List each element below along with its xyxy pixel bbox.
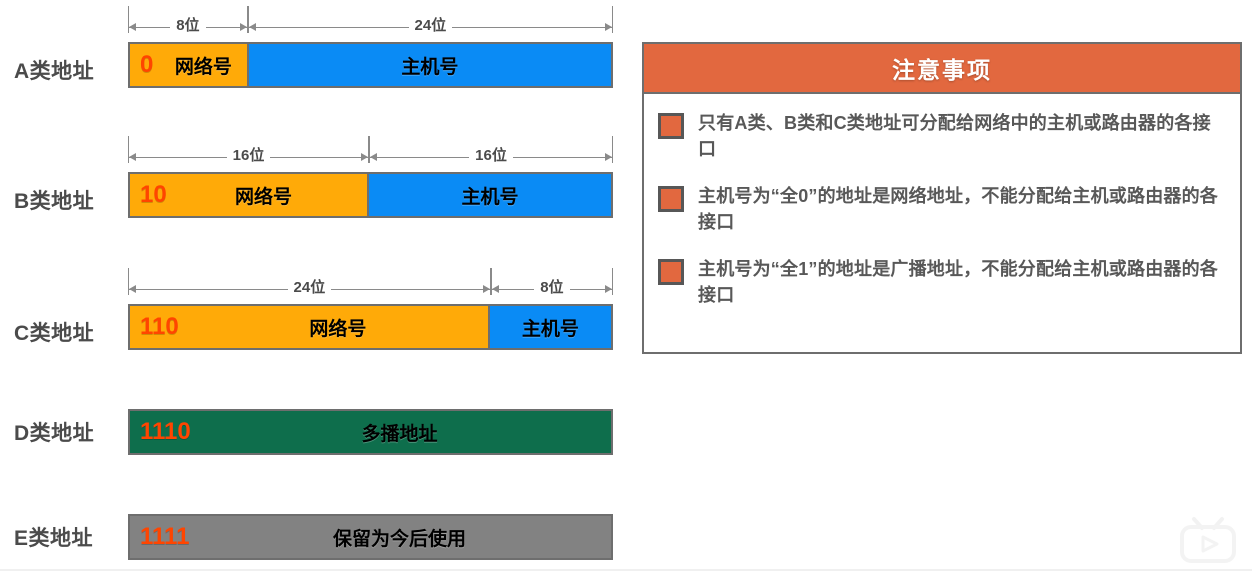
bit-dimension: 24位: [128, 268, 491, 298]
notice-item: 主机号为“全1”的地址是广播地址，不能分配给主机或路由器的各接口: [656, 256, 1224, 308]
row-label-b: B类地址: [14, 185, 94, 215]
address-bar-e: 1111 保留为今后使用: [128, 514, 613, 560]
address-bar-b: 10 网络号 主机号: [128, 172, 613, 218]
bit-label: 8位: [491, 276, 613, 297]
bit-prefix: 10: [140, 181, 167, 209]
notice-panel-body: 只有A类、B类和C类地址可分配给网络中的主机或路由器的各接口 主机号为“全0”的…: [644, 94, 1240, 309]
bit-label-text: 8位: [170, 17, 205, 34]
address-class-row-a: A类地址 8位 24位: [0, 0, 630, 100]
bit-prefix: 1111: [140, 523, 189, 551]
segment-label: 主机号: [490, 314, 611, 341]
bit-label-text: 16位: [227, 147, 271, 164]
segment-label: 主机号: [249, 52, 611, 79]
address-class-row-b: B类地址 16位 16位: [0, 130, 630, 230]
bit-dimension: 16位: [369, 136, 613, 166]
segment-label: 网络号: [130, 314, 488, 341]
bit-ruler-c: 24位 8位: [128, 268, 613, 298]
bit-ruler-a: 8位 24位: [128, 6, 613, 36]
notice-item-text: 只有A类、B类和C类地址可分配给网络中的主机或路由器的各接口: [698, 110, 1224, 162]
bit-ruler-b: 16位 16位: [128, 136, 613, 166]
bit-prefix: 110: [140, 313, 179, 341]
row-label-c: C类地址: [14, 317, 94, 347]
bit-prefix: 1110: [140, 418, 191, 446]
segment-label: 主机号: [369, 182, 611, 209]
notice-panel: 注意事项 只有A类、B类和C类地址可分配给网络中的主机或路由器的各接口 主机号为…: [642, 42, 1242, 354]
host-id-segment: 主机号: [490, 306, 611, 348]
network-id-segment: 110 网络号: [130, 306, 490, 348]
notice-item-text: 主机号为“全1”的地址是广播地址，不能分配给主机或路由器的各接口: [698, 256, 1224, 308]
network-id-segment: 10 网络号: [130, 174, 369, 216]
segment-label: 保留为今后使用: [130, 524, 611, 551]
notice-item-text: 主机号为“全0”的地址是网络地址，不能分配给主机或路由器的各接口: [698, 183, 1224, 235]
reserved-segment: 1111 保留为今后使用: [130, 516, 611, 558]
bit-label: 8位: [128, 14, 248, 35]
bit-label: 24位: [128, 276, 491, 297]
bit-label-text: 16位: [469, 147, 513, 164]
notice-item: 主机号为“全0”的地址是网络地址，不能分配给主机或路由器的各接口: [656, 183, 1224, 235]
bit-label: 24位: [248, 14, 613, 35]
host-id-segment: 主机号: [249, 44, 611, 86]
bit-dimension: 24位: [248, 6, 613, 36]
bilibili-tv-icon: [1176, 515, 1240, 565]
bit-dimension: 8位: [128, 6, 248, 36]
bit-prefix: 0: [140, 51, 153, 79]
network-id-segment: 0 网络号: [130, 44, 249, 86]
address-bar-a: 0 网络号 主机号: [128, 42, 613, 88]
notice-panel-title: 注意事项: [892, 51, 992, 85]
bit-label: 16位: [128, 144, 369, 165]
address-bar-d: 1110 多播地址: [128, 409, 613, 455]
host-id-segment: 主机号: [369, 174, 611, 216]
bullet-square-icon: [658, 113, 684, 139]
address-class-row-c: C类地址 24位 8位: [0, 262, 630, 362]
bit-dimension: 8位: [491, 268, 613, 298]
bit-label-text: 24位: [288, 279, 332, 296]
notice-panel-header: 注意事项: [644, 44, 1240, 94]
bit-label-text: 24位: [409, 17, 453, 34]
bit-dimension: 16位: [128, 136, 369, 166]
bit-label: 16位: [369, 144, 613, 165]
address-class-row-e: E类地址 1111 保留为今后使用: [0, 500, 630, 570]
bullet-square-icon: [658, 186, 684, 212]
address-class-row-d: D类地址 1110 多播地址: [0, 395, 630, 465]
address-bar-c: 110 网络号 主机号: [128, 304, 613, 350]
bullet-square-icon: [658, 259, 684, 285]
row-label-e: E类地址: [14, 522, 93, 552]
ip-address-class-diagram: A类地址 8位 24位: [0, 0, 630, 571]
notice-item: 只有A类、B类和C类地址可分配给网络中的主机或路由器的各接口: [656, 110, 1224, 162]
bit-label-text: 8位: [534, 279, 569, 296]
multicast-segment: 1110 多播地址: [130, 411, 611, 453]
row-label-d: D类地址: [14, 417, 94, 447]
row-label-a: A类地址: [14, 55, 94, 85]
slide-canvas: A类地址 8位 24位: [0, 0, 1252, 571]
segment-label: 多播地址: [130, 419, 611, 446]
